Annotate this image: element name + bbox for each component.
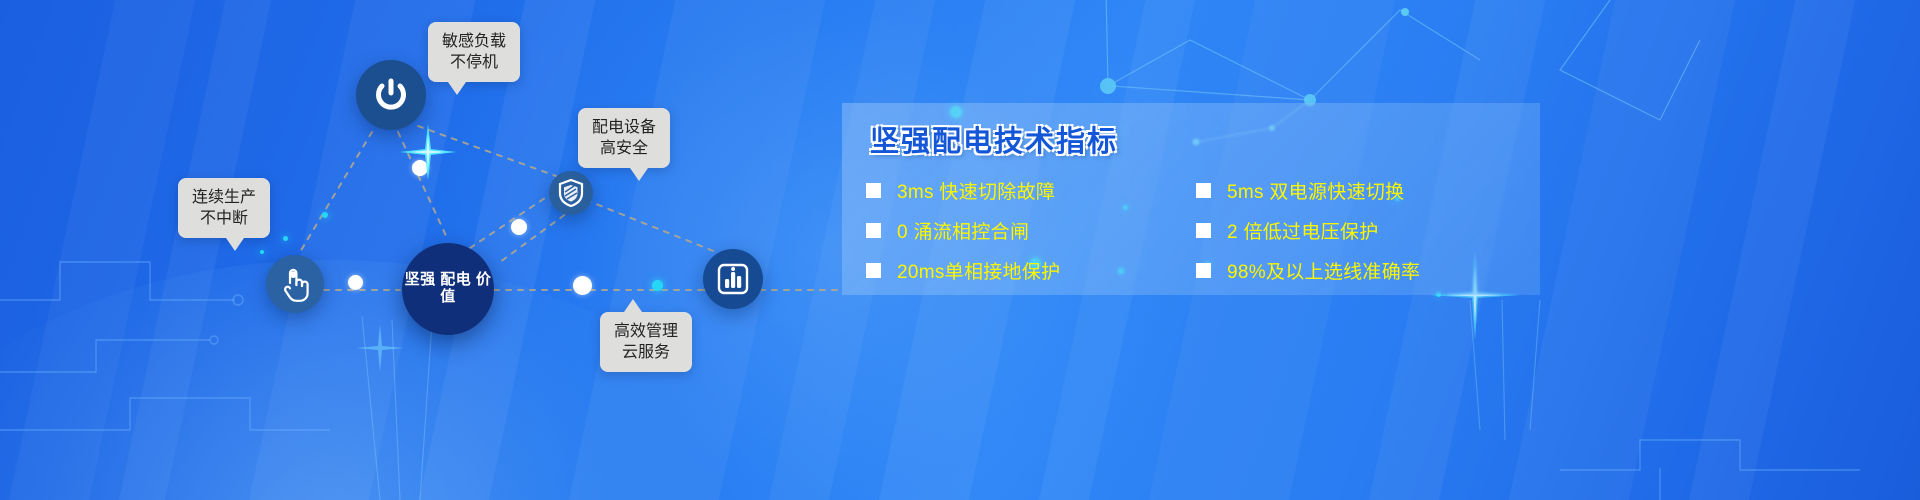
spec-item: 5ms 双电源快速切换 [1196, 170, 1526, 210]
node-power[interactable] [356, 60, 426, 130]
bullet-square-icon [866, 263, 881, 278]
power-icon [371, 75, 411, 115]
bg-band [548, 0, 843, 500]
spec-item: 2 倍低过电压保护 [1196, 210, 1526, 250]
bg-band [1668, 0, 1873, 500]
spec-item: 3ms 快速切除故障 [866, 170, 1196, 210]
touch-hand-icon [278, 266, 312, 302]
spec-label: 20ms单相接地保护 [897, 257, 1060, 284]
bullet-square-icon [1196, 223, 1211, 238]
ambient-dot [322, 212, 328, 218]
sparkle-icon [398, 122, 458, 182]
connector-dot [573, 276, 592, 295]
connector-dot [348, 275, 363, 290]
spec-list: 3ms 快速切除故障 5ms 双电源快速切换 0 涌流相控合闸 2 倍低过电压保… [866, 170, 1526, 290]
center-value-circle: 坚强 配电 价值 [402, 243, 494, 335]
bar-chart-icon [716, 262, 750, 296]
banner-stage: 坚强 配电 价值 敏感负载 不停机 配电设备 高安全 连续生产 不中断 高效管理… [0, 0, 1920, 500]
spec-label: 98%及以上选线准确率 [1227, 257, 1420, 284]
shield-icon [558, 179, 584, 207]
spec-item: 98%及以上选线准确率 [1196, 250, 1526, 290]
callout-distribution-safety: 配电设备 高安全 [578, 108, 670, 168]
connector-dot-cyan [652, 280, 663, 291]
ambient-dot [283, 236, 288, 241]
callout-cloud-service: 高效管理 云服务 [600, 312, 692, 372]
spec-label: 0 涌流相控合闸 [897, 217, 1029, 244]
sparkle-icon [352, 320, 408, 376]
bullet-square-icon [1196, 263, 1211, 278]
node-bar-chart[interactable] [703, 249, 763, 309]
spec-label: 2 倍低过电压保护 [1227, 217, 1379, 244]
spec-item: 20ms单相接地保护 [866, 250, 1196, 290]
bullet-square-icon [1196, 183, 1211, 198]
bottom-glow [0, 260, 780, 500]
spec-item: 0 涌流相控合闸 [866, 210, 1196, 250]
node-shield[interactable] [549, 171, 593, 215]
spec-label: 3ms 快速切除故障 [897, 177, 1055, 204]
center-label: 坚强 配电 价值 [402, 272, 494, 306]
spec-panel-title: 坚强配电技术指标 [870, 118, 1118, 160]
node-touch-hand[interactable] [266, 255, 324, 313]
connector-dot [412, 160, 428, 176]
callout-continuous-production: 连续生产 不中断 [178, 178, 270, 238]
spec-label: 5ms 双电源快速切换 [1227, 177, 1404, 204]
ambient-dot [260, 250, 264, 254]
connector-dot [511, 219, 527, 235]
callout-sensitive-load: 敏感负载 不停机 [428, 22, 520, 82]
bullet-square-icon [866, 183, 881, 198]
bg-band [0, 0, 212, 500]
bullet-square-icon [866, 223, 881, 238]
